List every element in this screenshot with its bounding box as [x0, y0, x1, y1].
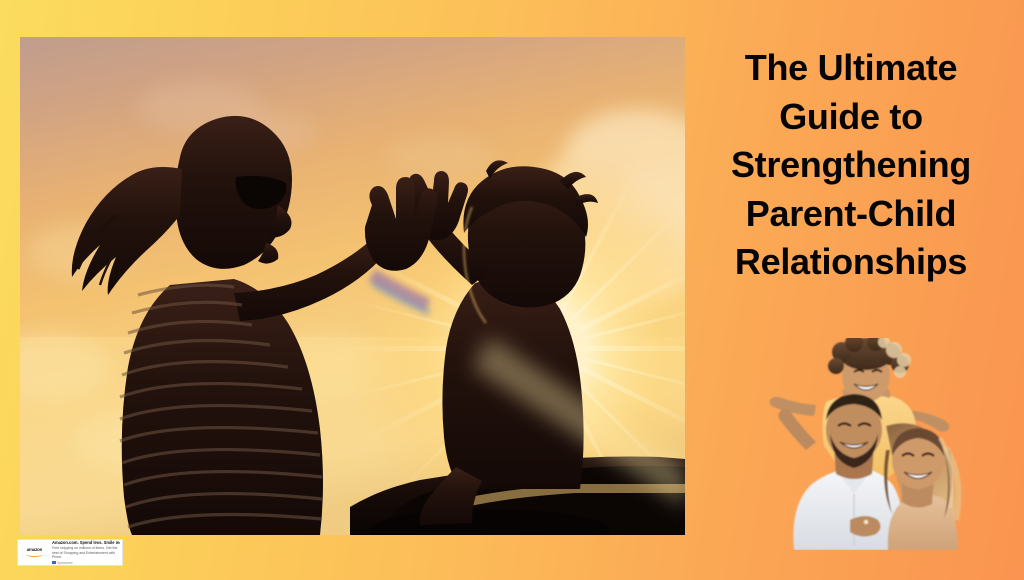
amazon-logo: amazon [20, 548, 49, 558]
hero-photo [20, 37, 685, 535]
page-title: The Ultimate Guide to Strengthening Pare… [690, 44, 1012, 287]
title-line-1: The Ultimate [690, 44, 1012, 93]
hero-photo-artwork [20, 37, 685, 535]
poster-canvas: The Ultimate Guide to Strengthening Pare… [0, 0, 1024, 580]
family-photo-artwork [750, 338, 972, 550]
amazon-logo-text: amazon [20, 548, 49, 552]
amazon-ad-footer: Sponsored [52, 561, 120, 565]
amazon-ad-label: Sponsored [57, 561, 72, 565]
ad-choices-icon[interactable] [52, 561, 56, 565]
title-line-5: Relationships [690, 238, 1012, 287]
title-line-3: Strengthening [690, 141, 1012, 190]
amazon-ad-body: Free shipping on millions of items. Get … [52, 546, 120, 560]
title-line-4: Parent-Child [690, 190, 1012, 239]
amazon-ad-headline: Amazon.com. Spend less. Smile more. [52, 540, 120, 545]
amazon-ad-copy: Amazon.com. Spend less. Smile more. Free… [49, 540, 120, 564]
title-line-2: Guide to [690, 93, 1012, 142]
amazon-ad-card[interactable]: amazon Amazon.com. Spend less. Smile mor… [17, 539, 123, 566]
amazon-smile-icon [26, 552, 43, 557]
family-photo [750, 338, 972, 550]
